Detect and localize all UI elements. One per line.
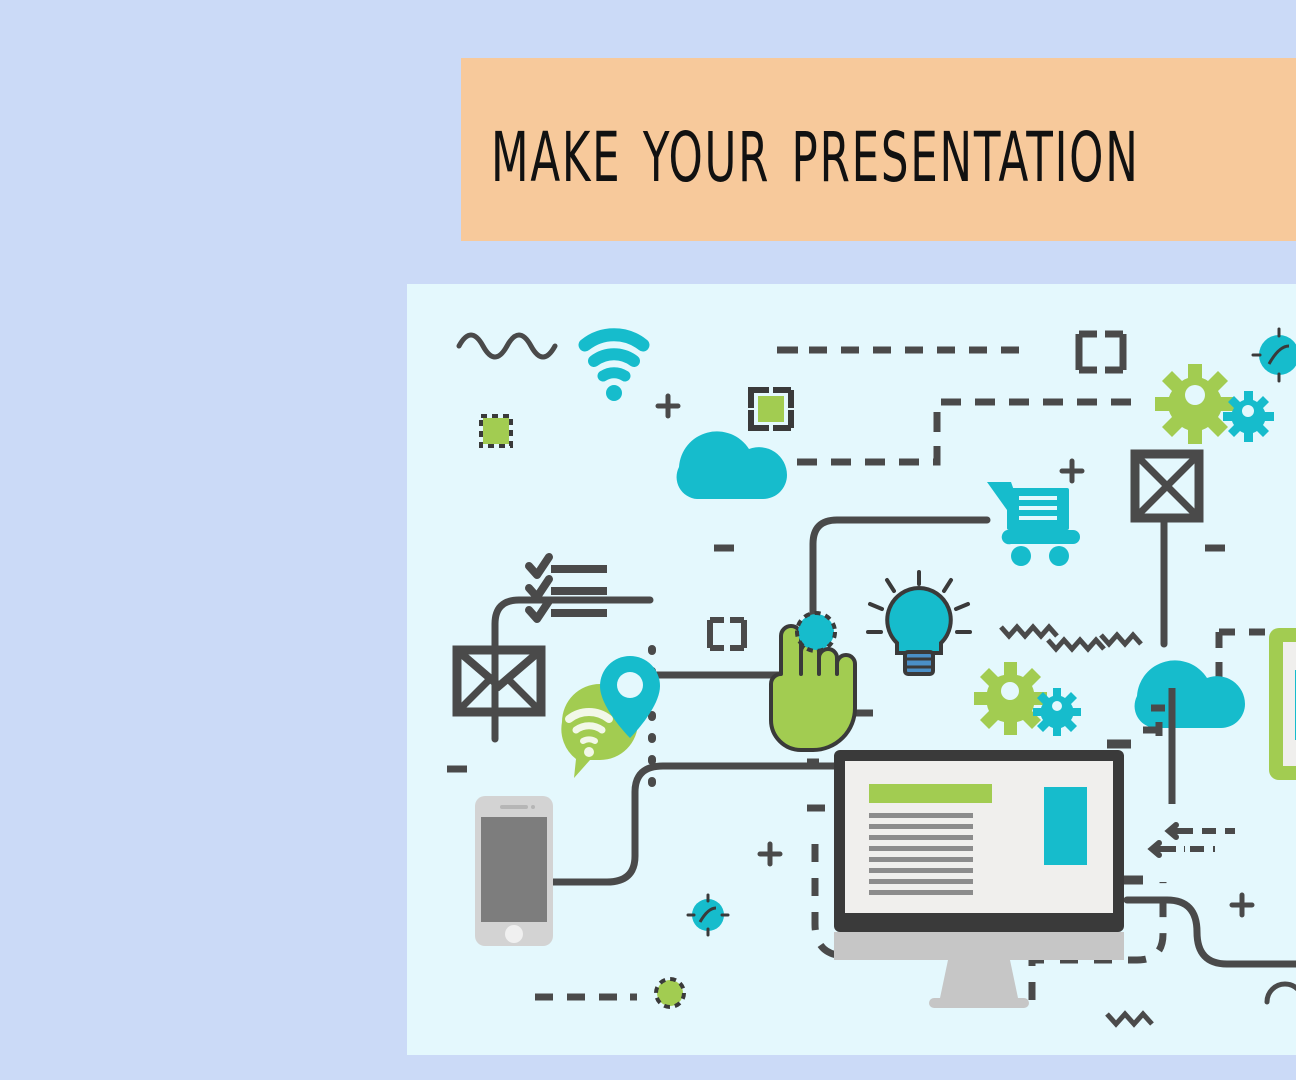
monitor-base — [834, 932, 1124, 960]
technology-icon-collage — [407, 284, 1296, 1055]
monitor-neck — [940, 960, 1018, 998]
gear-small-icon-lower — [1033, 688, 1081, 736]
smartphone-icon — [475, 796, 553, 946]
tablet-screen — [1283, 642, 1296, 766]
screen-header-bar — [869, 784, 992, 803]
title-band: Make your presentation — [461, 58, 1296, 241]
tablet-chart-icon — [1269, 628, 1296, 780]
page-title-text: Make your presentation — [491, 99, 1140, 197]
presentation-slide: Make your presentation — [0, 0, 1296, 1080]
gear-large-icon — [1155, 364, 1235, 444]
page-title: Make your presentation — [491, 109, 1228, 187]
monitor-foot — [929, 998, 1029, 1008]
green-dashed-square — [481, 416, 511, 446]
illustration-panel — [407, 284, 1296, 1055]
screen-sidebar-block — [1044, 787, 1087, 865]
checklist-icon — [529, 557, 607, 619]
gear-large-icon-lower — [974, 662, 1047, 735]
